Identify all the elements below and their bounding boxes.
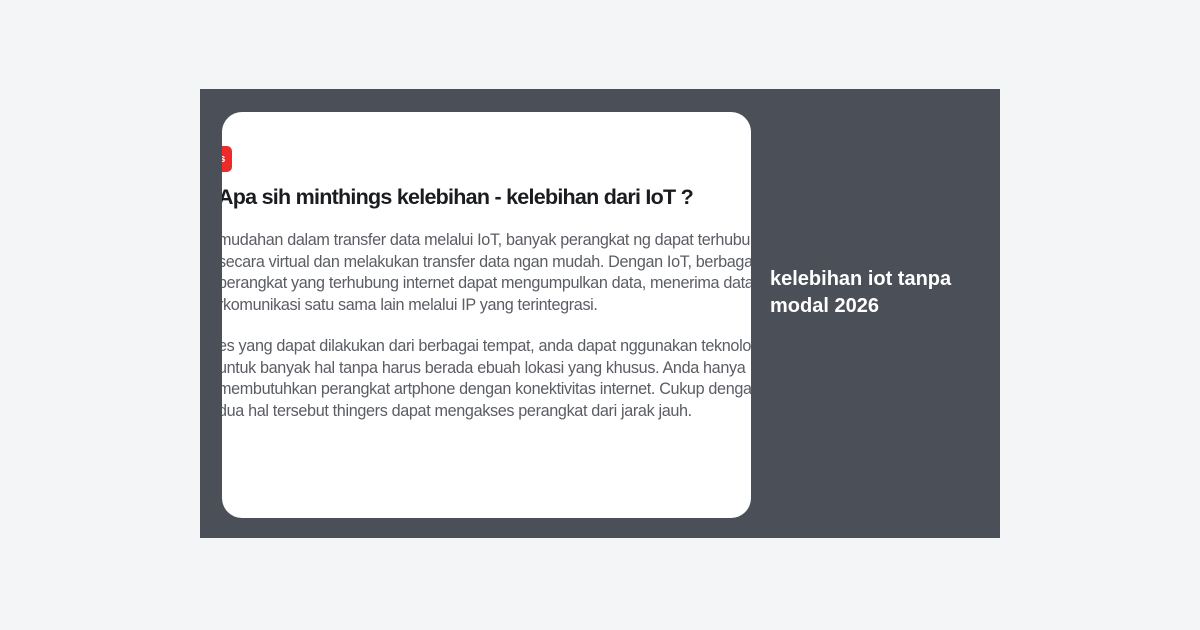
site-logo-label: gs <box>222 154 225 165</box>
article-screenshot-card[interactable]: gs Apa sih minthings kelebihan - kelebih… <box>222 112 751 518</box>
site-logo-icon: gs <box>222 146 232 172</box>
preview-caption: kelebihan iot tanpa modal 2026 <box>770 266 980 320</box>
preview-panel: gs Apa sih minthings kelebihan - kelebih… <box>200 89 1000 538</box>
article-body: mudahan dalam transfer data melalui IoT,… <box>222 230 751 422</box>
article-title: Apa sih minthings kelebihan - kelebihan … <box>222 185 751 210</box>
card-inner-content: gs Apa sih minthings kelebihan - kelebih… <box>222 112 751 518</box>
article-paragraph-2: es yang dapat dilakukan dari berbagai te… <box>222 336 751 422</box>
article-paragraph-1: mudahan dalam transfer data melalui IoT,… <box>222 230 751 316</box>
